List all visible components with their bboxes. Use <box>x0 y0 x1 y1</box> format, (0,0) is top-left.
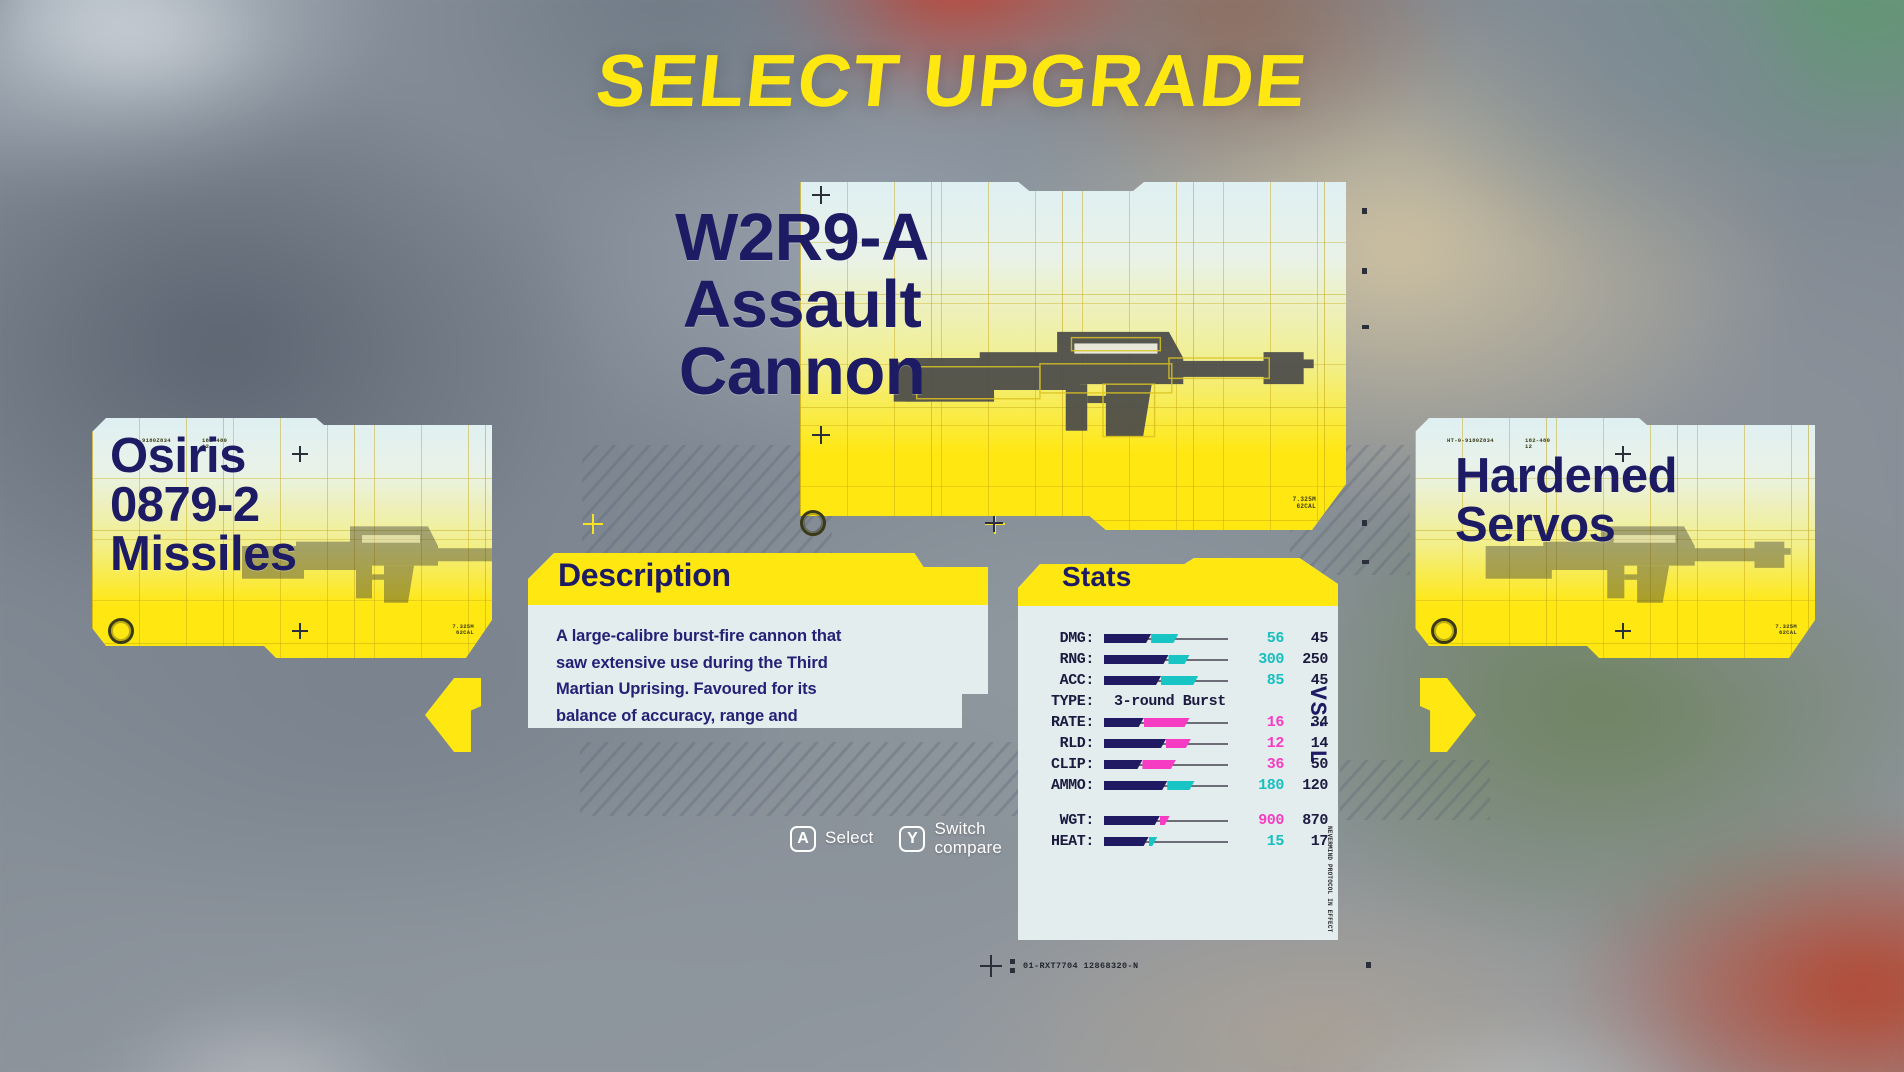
stat-new-value: 180 <box>1238 777 1284 794</box>
card-left-line-3: Missiles <box>110 530 297 579</box>
stat-bar-base <box>1104 634 1151 643</box>
stat-bar <box>1104 655 1228 664</box>
stat-old-value: 250 <box>1284 651 1328 668</box>
card-micro-code-right-2: 182-480 12 <box>1525 438 1550 450</box>
card-micro-code-right: HT-0-9180Z834 <box>1447 438 1494 444</box>
stat-label: RLD: <box>1018 735 1104 752</box>
stat-label: DMG: <box>1018 630 1104 647</box>
stat-row: WGT:900870 <box>1018 810 1338 831</box>
side-tick-6 <box>1366 962 1371 968</box>
stat-new-value: 16 <box>1238 714 1284 731</box>
stat-row: AMMO:180120 <box>1018 775 1338 796</box>
stat-bar-base <box>1104 816 1160 825</box>
stat-bar <box>1104 837 1228 846</box>
card-center-line-3: Cannon <box>592 338 1012 405</box>
prompt-switch-label: Switch compare <box>934 820 1002 857</box>
stat-bar-base <box>1104 781 1167 790</box>
card-ring-center-visible <box>800 510 826 536</box>
stat-bar-base <box>1104 760 1142 769</box>
stats-header: Stats <box>1018 558 1338 606</box>
card-ring-right <box>1431 618 1457 644</box>
stats-panel: Stats DMG:5645RNG:300250ACC:8545TYPE:3-r… <box>1018 558 1338 940</box>
side-tick-2 <box>1362 268 1367 274</box>
card-caliber-center: 7.325M 62CAL <box>1293 497 1316 510</box>
card-ring-left <box>108 618 134 644</box>
button-prompts: A Select Y Switch compare <box>790 820 1002 857</box>
prompt-select-label: Select <box>825 829 873 848</box>
prompt-select[interactable]: A Select <box>790 826 873 852</box>
stat-bar-base <box>1104 739 1166 748</box>
stat-bar-base <box>1104 676 1161 685</box>
card-center-line-1: W2R9-A <box>592 204 1012 271</box>
button-y-icon: Y <box>899 826 925 852</box>
stat-new-value: 300 <box>1238 651 1284 668</box>
side-tick-1 <box>1362 208 1367 214</box>
stat-label: ACC: <box>1018 672 1104 689</box>
stat-label: AMMO: <box>1018 777 1104 794</box>
side-tick-3 <box>1362 325 1369 329</box>
stat-bar-delta <box>1144 718 1190 727</box>
description-header: Description <box>528 553 988 605</box>
stat-bar <box>1104 718 1228 727</box>
stat-row: ACC:8545 <box>1018 670 1338 691</box>
card-caliber-right: 7.325M 62CAL <box>1775 624 1797 636</box>
stat-bar-delta <box>1161 676 1198 685</box>
stat-row: RNG:300250 <box>1018 649 1338 670</box>
stat-row: CLIP:3650 <box>1018 754 1338 775</box>
stat-row: TYPE:3-round Burst <box>1018 691 1338 712</box>
stat-label: RATE: <box>1018 714 1104 731</box>
stat-bar <box>1104 781 1228 790</box>
stats-rows: DMG:5645RNG:300250ACC:8545TYPE:3-round B… <box>1018 606 1338 852</box>
card-left-line-1: Osiris <box>110 432 297 481</box>
stat-bar-base <box>1104 837 1149 846</box>
stat-bar <box>1104 676 1228 685</box>
stat-old-value: 120 <box>1284 777 1328 794</box>
stat-old-value: 870 <box>1284 812 1328 829</box>
stat-new-value: 900 <box>1238 812 1284 829</box>
card-right-line-1: Hardened <box>1455 452 1677 501</box>
stat-label: RNG: <box>1018 651 1104 668</box>
prompt-switch-line2: compare <box>934 839 1002 858</box>
stat-row: DMG:5645 <box>1018 628 1338 649</box>
stat-new-value: 36 <box>1238 756 1284 773</box>
stat-new-value: 15 <box>1238 833 1284 850</box>
button-a-icon: A <box>790 826 816 852</box>
stat-bar-base <box>1104 655 1168 664</box>
stats-row-gap <box>1018 796 1338 810</box>
upgrade-card-right-title: Hardened Servos <box>1455 452 1677 550</box>
footer-crosshair <box>980 955 1002 977</box>
footer-marker-squares <box>1010 959 1015 973</box>
upgrade-card-left-title: Osiris 0879-2 Missiles <box>110 432 297 579</box>
footer-tech-strip: 01-RXT7704 12868320-N <box>980 955 1139 977</box>
stat-bar-delta <box>1167 781 1194 790</box>
description-header-label: Description <box>558 557 731 594</box>
stat-new-value: 85 <box>1238 672 1284 689</box>
page-title: SELECT UPGRADE <box>0 38 1904 123</box>
side-tick-5 <box>1362 560 1369 564</box>
stat-row: HEAT:1517 <box>1018 831 1338 852</box>
stat-bar <box>1104 739 1228 748</box>
stat-row: RATE:1634 <box>1018 712 1338 733</box>
protocol-note: NEVERMIND PROTOCOL IN EFFECT <box>1325 826 1334 932</box>
stat-bar-delta <box>1142 760 1175 769</box>
side-tick-4 <box>1362 520 1367 526</box>
prompt-switch-compare[interactable]: Y Switch compare <box>899 820 1002 857</box>
stat-new-value: 56 <box>1238 630 1284 647</box>
description-panel: Description A large-calibre burst-fire c… <box>528 553 988 728</box>
stat-bar <box>1104 760 1228 769</box>
stat-label: CLIP: <box>1018 756 1104 773</box>
stat-label: HEAT: <box>1018 833 1104 850</box>
footer-tech-code: 01-RXT7704 12868320-N <box>1023 961 1139 971</box>
stat-bar-delta <box>1151 634 1178 643</box>
stat-bar-delta <box>1166 739 1191 748</box>
versus-label: VS: L <box>1304 686 1330 765</box>
stat-new-value: 12 <box>1238 735 1284 752</box>
stat-text-value: 3-round Burst <box>1104 693 1226 710</box>
card-center-line-2: Assault <box>592 271 1012 338</box>
stat-old-value: 17 <box>1284 833 1328 850</box>
stat-bar-base <box>1104 718 1144 727</box>
stat-label: WGT: <box>1018 812 1104 829</box>
stat-bar <box>1104 634 1228 643</box>
stat-old-value: 45 <box>1284 630 1328 647</box>
stat-bar-delta <box>1168 655 1189 664</box>
upgrade-card-center-title: W2R9-A Assault Cannon <box>592 204 1012 405</box>
stat-bar <box>1104 816 1228 825</box>
prompt-switch-line1: Switch <box>934 819 985 838</box>
card-caliber-left: 7.325M 62CAL <box>452 624 474 636</box>
card-right-line-2: Servos <box>1455 501 1677 550</box>
stats-header-label: Stats <box>1062 561 1131 593</box>
card-left-line-2: 0879-2 <box>110 481 297 530</box>
stat-label: TYPE: <box>1018 693 1104 710</box>
stat-row: RLD:1214 <box>1018 733 1338 754</box>
